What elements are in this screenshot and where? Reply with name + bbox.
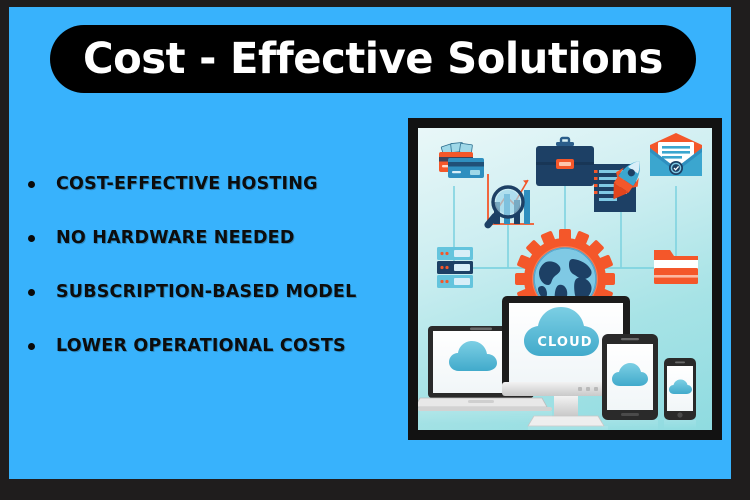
cloud-computing-illustration: CLOUD xyxy=(418,128,712,430)
list-item: LOWER OPERATIONAL COSTS xyxy=(17,319,397,373)
monitor-screen-label: CLOUD xyxy=(537,335,592,350)
list-item: NO HARDWARE NEEDED xyxy=(17,211,397,265)
bullet-dot-icon xyxy=(28,289,35,296)
bullet-label: COST-EFFECTIVE HOSTING xyxy=(56,174,318,194)
bullet-label: LOWER OPERATIONAL COSTS xyxy=(56,336,346,356)
list-item: SUBSCRIPTION-BASED MODEL xyxy=(17,265,397,319)
slide-canvas: Cost - Effective Solutions COST-EFFECTIV… xyxy=(9,7,731,479)
credit-cards-and-cash-icon xyxy=(439,142,484,178)
illustration-canvas: CLOUD xyxy=(418,128,712,430)
smartphone-device xyxy=(664,358,696,420)
page-title: Cost - Effective Solutions xyxy=(83,38,663,81)
feature-bullet-list: COST-EFFECTIVE HOSTING NO HARDWARE NEEDE… xyxy=(17,157,397,373)
title-banner: Cost - Effective Solutions xyxy=(50,25,696,93)
bullet-label: SUBSCRIPTION-BASED MODEL xyxy=(56,282,356,302)
briefcase-icon xyxy=(536,138,594,186)
bullet-dot-icon xyxy=(28,343,35,350)
envelope-mail-icon xyxy=(650,133,702,176)
list-item: COST-EFFECTIVE HOSTING xyxy=(17,157,397,211)
bullet-label: NO HARDWARE NEEDED xyxy=(56,228,295,248)
illustration-frame: CLOUD xyxy=(408,118,722,440)
server-rack-icon xyxy=(437,247,473,288)
magnifier-bar-chart-icon xyxy=(483,174,534,230)
tablet-device xyxy=(602,334,658,420)
bullet-dot-icon xyxy=(28,181,35,188)
slide-root: Cost - Effective Solutions COST-EFFECTIV… xyxy=(0,0,750,500)
document-rocket-pen-icon xyxy=(594,154,650,224)
bullet-dot-icon xyxy=(28,235,35,242)
